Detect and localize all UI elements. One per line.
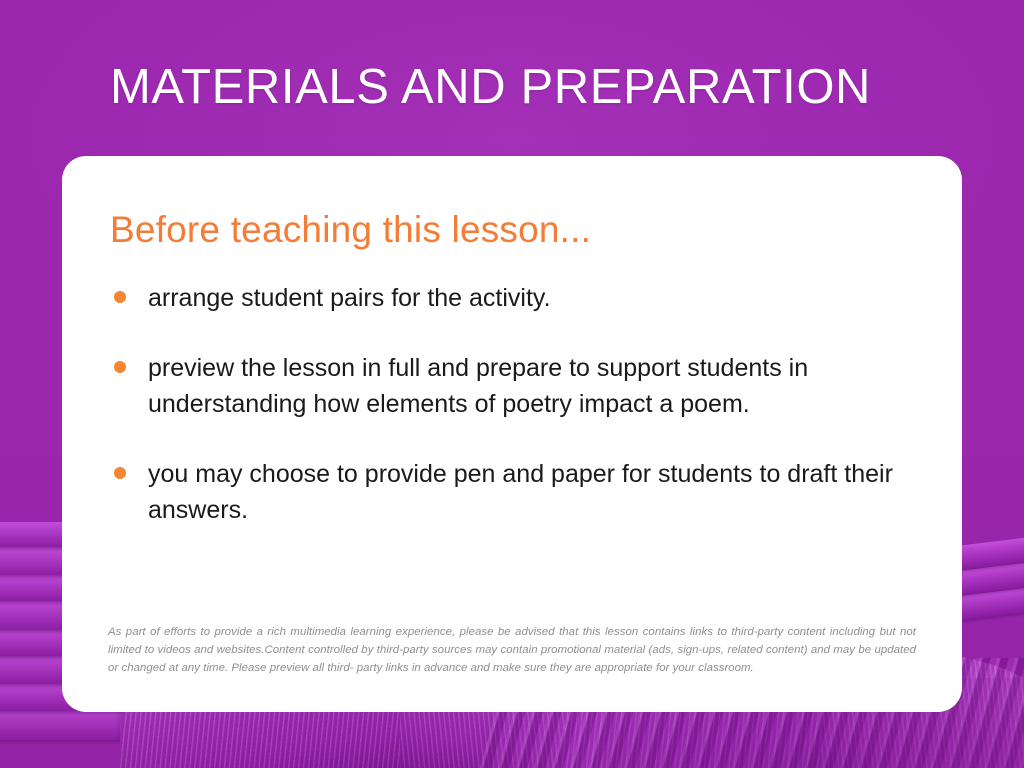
bullet-dot-icon xyxy=(114,291,126,303)
list-item: you may choose to provide pen and paper … xyxy=(108,456,916,528)
list-item-text: arrange student pairs for the activity. xyxy=(148,280,551,316)
third-party-disclaimer: As part of efforts to provide a rich mul… xyxy=(108,623,916,677)
content-card: Before teaching this lesson... arrange s… xyxy=(62,156,962,712)
list-item-text: preview the lesson in full and prepare t… xyxy=(148,350,916,422)
card-heading: Before teaching this lesson... xyxy=(110,208,916,252)
list-item-text: you may choose to provide pen and paper … xyxy=(148,456,916,528)
bullet-dot-icon xyxy=(114,361,126,373)
bullet-dot-icon xyxy=(114,467,126,479)
list-item: preview the lesson in full and prepare t… xyxy=(108,350,916,422)
page-title: MATERIALS AND PREPARATION xyxy=(110,58,871,116)
bullet-list: arrange student pairs for the activity. … xyxy=(108,280,916,528)
list-item: arrange student pairs for the activity. xyxy=(108,280,916,316)
slide: MATERIALS AND PREPARATION Before teachin… xyxy=(0,0,1024,768)
